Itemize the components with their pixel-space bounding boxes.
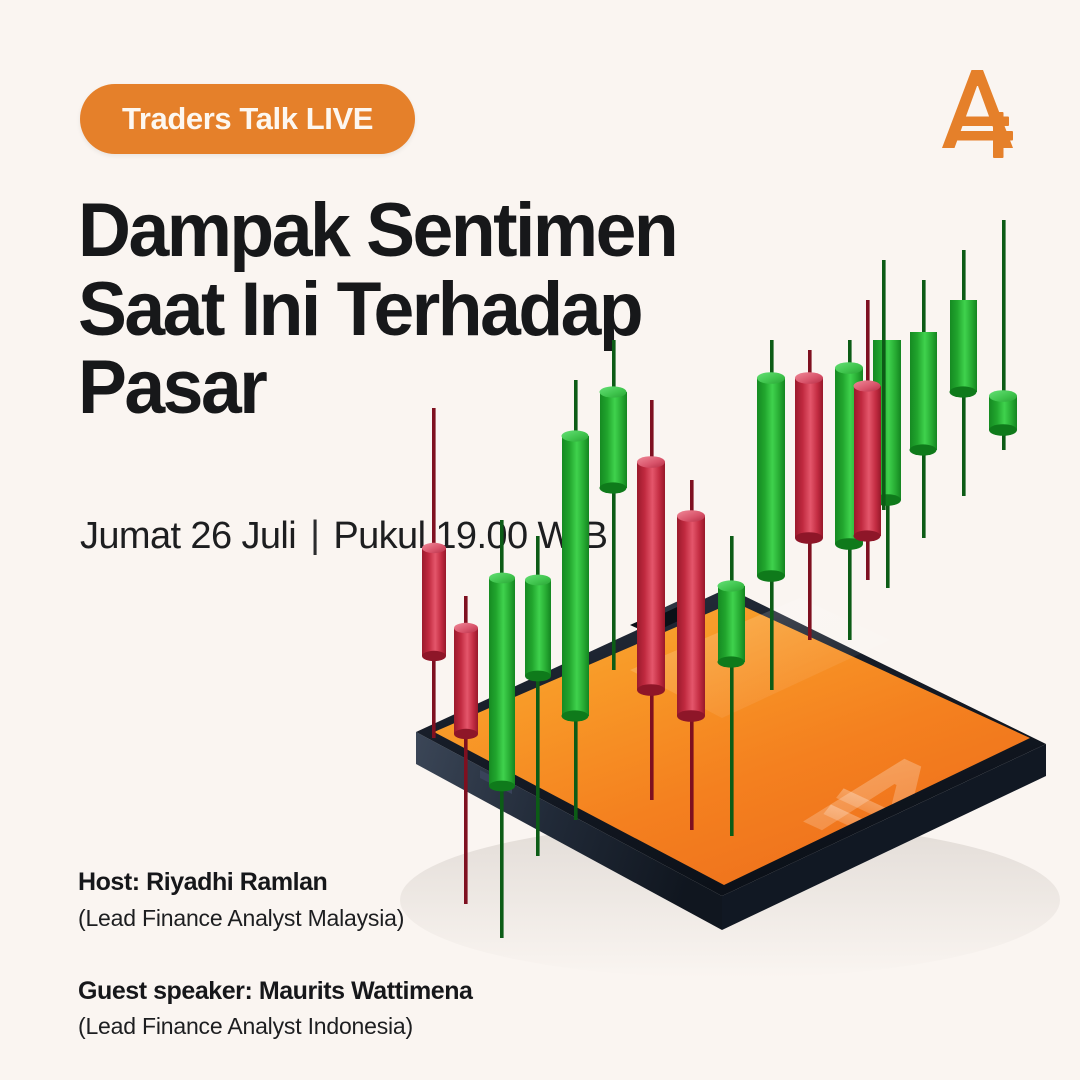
candle-2-down — [454, 596, 478, 904]
speaker-guest-name: Guest speaker: Maurits Wattimena — [78, 975, 473, 1008]
logo-a-currency-mark-icon — [924, 56, 1032, 164]
poster-canvas: Traders Talk LIVE Dampak Sentimen Saat I… — [0, 0, 1080, 1080]
candle-12-up — [835, 340, 863, 640]
speaker-guest-role: (Lead Finance Analyst Indonesia) — [78, 1010, 473, 1043]
phone-speaker-grille — [648, 601, 681, 620]
headline-line-3: Pasar — [78, 349, 811, 428]
screen-watermark — [801, 741, 961, 868]
live-badge[interactable]: Traders Talk LIVE — [80, 84, 415, 154]
candle-7-down — [637, 400, 665, 800]
phone-notch — [630, 601, 702, 634]
schedule-line: Jumat 26 Juli | Pukul 19.00 WIB — [80, 515, 607, 558]
phone-side-button — [480, 770, 512, 794]
phone-bezel — [416, 588, 1046, 896]
screen-glare — [630, 598, 890, 718]
candle-4-up — [525, 536, 551, 856]
candle-1-down — [422, 408, 446, 738]
speaker-host-role: (Lead Finance Analyst Malaysia) — [78, 902, 473, 935]
page-title: Dampak Sentimen Saat Ini Terhadap Pasar — [78, 192, 838, 428]
speaker-guest: Guest speaker: Maurits Wattimena (Lead F… — [78, 975, 473, 1044]
schedule-time: Pukul 19.00 WIB — [333, 515, 607, 558]
schedule-date: Jumat 26 Juli — [80, 515, 296, 558]
candle-8-down — [677, 480, 705, 830]
phone-screen — [434, 602, 1030, 885]
candle-14-up — [882, 260, 886, 510]
candle-17-up — [950, 250, 978, 496]
candle-13-up — [873, 340, 901, 588]
candle-18-up — [989, 220, 1017, 450]
candle-3-up — [489, 520, 515, 938]
live-badge-label: Traders Talk LIVE — [122, 101, 373, 137]
speaker-host: Host: Riyadhi Ramlan (Lead Finance Analy… — [78, 866, 473, 935]
smartphone — [416, 588, 1046, 930]
brand-logo — [924, 56, 1032, 164]
candle-5-up — [562, 380, 590, 820]
headline-line-1: Dampak Sentimen — [78, 192, 811, 271]
headline-line-2: Saat Ini Terhadap — [78, 271, 811, 350]
candle-9-up — [718, 536, 746, 836]
speaker-host-name: Host: Riyadhi Ramlan — [78, 866, 473, 899]
candle-15-down — [854, 300, 882, 580]
candle-16-up — [910, 280, 938, 538]
phone-shadow — [400, 822, 1060, 978]
schedule-separator: | — [310, 514, 319, 557]
speaker-list: Host: Riyadhi Ramlan (Lead Finance Analy… — [78, 866, 473, 1044]
phone-side-right — [722, 744, 1046, 930]
